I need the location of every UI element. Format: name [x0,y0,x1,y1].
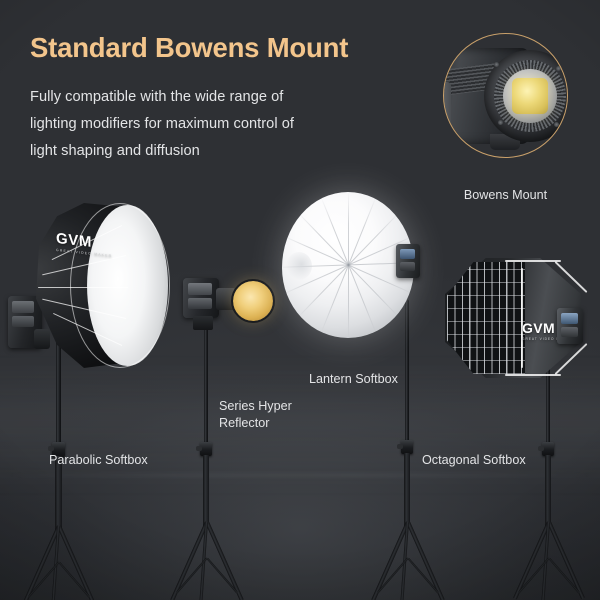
inset-caption: Bowens Mount [418,188,593,202]
product-label-parabolic: Parabolic Softbox [49,452,148,469]
collar-knob-icon [397,444,403,449]
head-display-icon [561,313,578,324]
stand-leg [57,525,94,600]
product-label-hyper: Series Hyper Reflector [219,398,292,431]
subcopy-line-1: Fully compatible with the wide range of [30,84,390,111]
product-label-octagonal: Octagonal Softbox [422,452,526,469]
collar-knob-icon [48,446,54,451]
stand-lock-collar [542,442,554,456]
product-hyper-reflector [183,272,275,334]
head-controls-icon [400,262,415,271]
softbox-rim [70,203,170,368]
head-display-icon [400,249,415,259]
page-subcopy: Fully compatible with the wide range of … [30,84,390,165]
stand-lower-pole [404,453,410,527]
light-head-icon [183,278,219,318]
product-label-hyper-line2: Reflector [219,416,269,430]
stand-lock-collar [200,442,212,456]
brand-logo-text: GVM [522,320,555,336]
inset-gold-ring [443,33,568,158]
page-title: Standard Bowens Mount [30,32,348,64]
stand-lower-pole [203,455,209,527]
softbox-seam [521,268,523,368]
collar-knob-icon [538,446,544,451]
product-lantern-softbox [282,192,422,342]
light-stand-hyper [168,316,298,600]
stand-lower-pole [545,455,551,527]
reflector-rim [231,279,275,323]
collar-knob-icon [196,446,202,451]
stand-upper-pole [204,316,208,448]
lantern-gather-point [286,252,312,280]
honeycomb-grid [447,262,525,374]
stand-lock-collar [401,440,413,454]
light-head-icon [557,308,583,344]
head-controls-icon [561,327,578,337]
head-display-icon [12,301,34,313]
subcopy-line-2: lighting modifiers for maximum control o… [30,111,390,138]
softbox-rim [505,260,561,262]
yoke-mount-icon [193,316,213,330]
product-banner: Standard Bowens Mount Fully compatible w… [0,0,600,600]
product-label-lantern: Lantern Softbox [309,371,398,388]
product-parabolic-softbox: GVM GREAT VIDEO MAKER [18,203,186,373]
head-display-icon [188,283,212,295]
product-label-hyper-line1: Series Hyper [219,399,292,413]
softbox-rim [505,374,561,376]
product-octagonal-softbox: GVM GREAT VIDEO MAKER [445,258,595,380]
bowens-mount-inset [443,33,568,158]
subcopy-line-3: light shaping and diffusion [30,138,390,165]
head-controls-icon [188,298,212,309]
tilt-knob-icon [34,329,50,349]
light-head-icon [396,244,420,278]
head-controls-icon [12,316,34,327]
